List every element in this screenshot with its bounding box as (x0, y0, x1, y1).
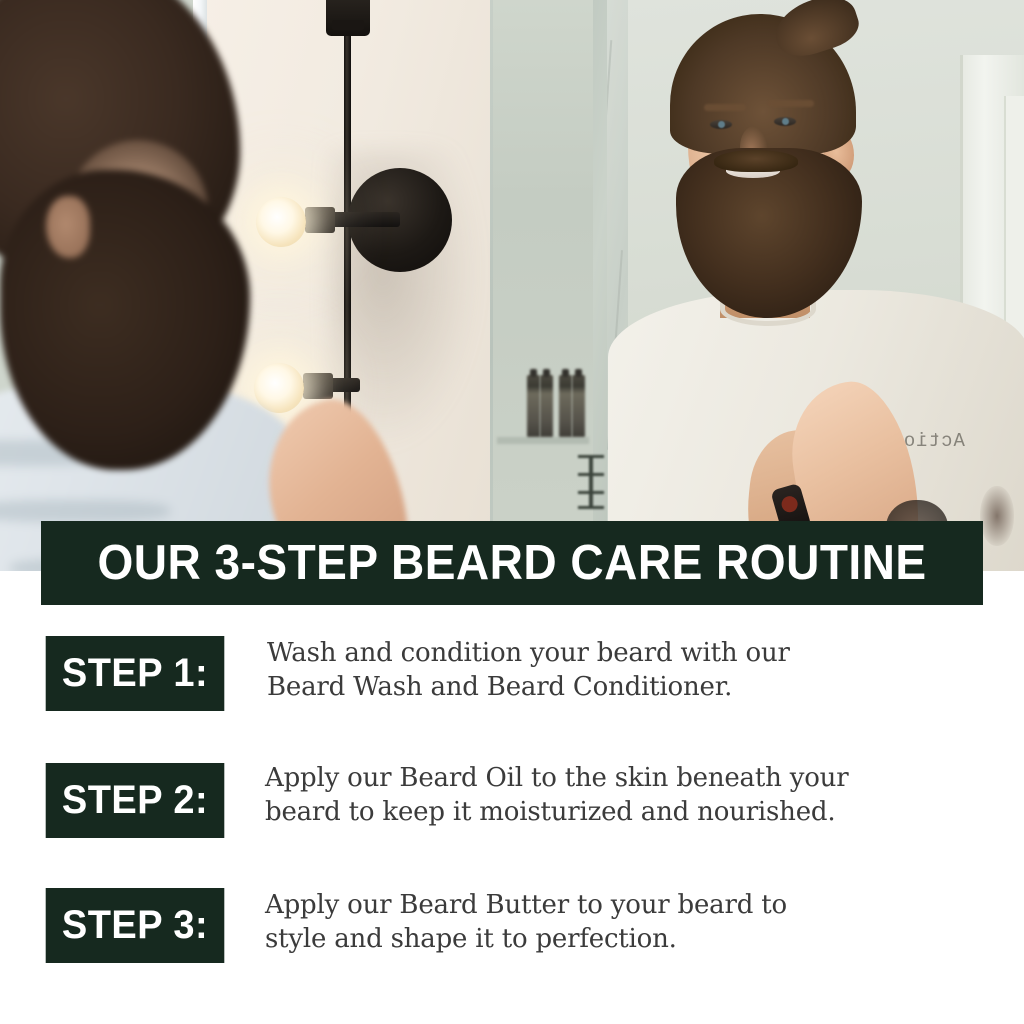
mirror-eyebrow-right (768, 100, 814, 107)
step-2-description: Apply our Beard Oil to the skin beneath … (265, 761, 1024, 830)
bulb-base-lower (303, 373, 333, 399)
lamp-top-socket (326, 0, 370, 36)
man-foreground (0, 0, 270, 571)
product-bottle (559, 375, 572, 437)
step-1-badge: STEP 1: (46, 636, 225, 711)
list-item: STEP 1: Wash and condition your beard wi… (0, 636, 1024, 711)
bulb-base-upper (305, 207, 335, 233)
steps-list: STEP 1: Wash and condition your beard wi… (0, 636, 1024, 1013)
step-2-line-2: beard to keep it moisturized and nourish… (265, 796, 974, 830)
man-in-mirror: Actions (628, 0, 1024, 571)
step-1-line-1: Wash and condition your beard with our (267, 637, 974, 671)
headline-banner: OUR 3-STEP BEARD CARE ROUTINE (41, 521, 983, 605)
shower-rack (578, 455, 604, 509)
foreground-ear (46, 196, 90, 258)
step-2-badge: STEP 2: (46, 763, 225, 838)
step-3-line-2: style and shape it to perfection. (265, 923, 974, 957)
product-bottle (572, 375, 585, 437)
mirror-eye-left (710, 120, 732, 129)
beard-care-routine-graphic: Actions OUR 3-STEP BEARD CARE ROUTINE ST… (0, 0, 1024, 1024)
shower-shelf (497, 437, 589, 444)
mirror-mustache (714, 150, 798, 172)
mirror-eyebrow-left (704, 104, 746, 111)
step-1-description: Wash and condition your beard with our B… (267, 636, 1024, 705)
step-3-badge: STEP 3: (46, 888, 225, 963)
mirror-eye-right (774, 117, 796, 126)
product-bottle (540, 375, 553, 437)
product-bottle (527, 375, 540, 437)
hero-photo: Actions (0, 0, 1024, 571)
list-item: STEP 3: Apply our Beard Butter to your b… (0, 888, 1024, 963)
step-1-line-2: Beard Wash and Beard Conditioner. (267, 671, 974, 705)
list-item: STEP 2: Apply our Beard Oil to the skin … (0, 761, 1024, 838)
arm-tattoo-right (980, 486, 1014, 546)
step-3-line-1: Apply our Beard Butter to your beard to (265, 889, 974, 923)
page-title: OUR 3-STEP BEARD CARE ROUTINE (97, 539, 926, 588)
step-2-line-1: Apply our Beard Oil to the skin beneath … (265, 762, 974, 796)
step-3-description: Apply our Beard Butter to your beard to … (265, 888, 1024, 957)
